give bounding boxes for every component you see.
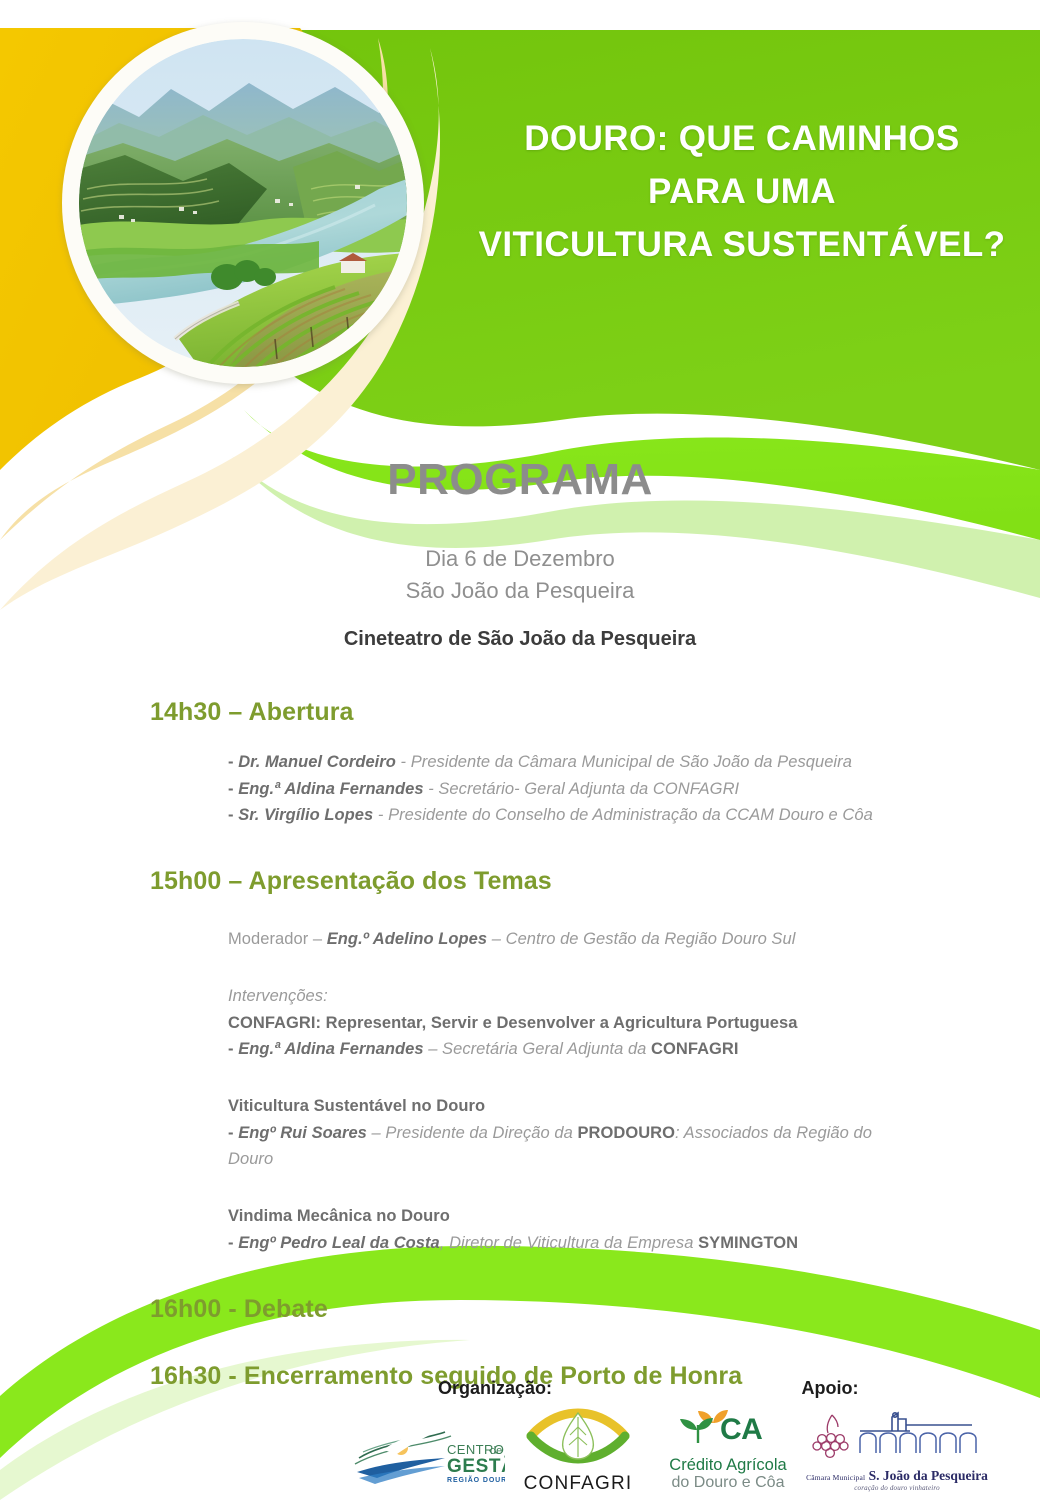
- speaker-prefix: -: [228, 806, 238, 824]
- poster-content: PROGRAMA Dia 6 de Dezembro São João da P…: [0, 0, 1040, 1500]
- credito-agricola-line2: do Douro e Côa: [668, 1474, 788, 1492]
- slot-time-title: 16h00 - Debate: [0, 1295, 1040, 1324]
- centro-gestao-logo: CENTRO de GESTÃO REGIÃO DOURO SUL: [353, 1428, 505, 1495]
- speaker-line: - Sr. Virgílio Lopes - Presidente do Con…: [228, 802, 920, 829]
- camara-municipal-name: Câmara Municipal S. João da Pesqueira: [802, 1468, 992, 1484]
- moderator-affiliation: – Centro de Gestão da Região Douro Sul: [487, 930, 795, 948]
- camara-municipal-prefix: Câmara Municipal: [806, 1473, 865, 1482]
- credito-agricola-mark: CA: [668, 1405, 788, 1451]
- schedule-list: 14h30 – Abertura - Dr. Manuel Cordeiro -…: [0, 698, 1040, 1391]
- moderator-name: Eng.º Adelino Lopes: [327, 930, 487, 948]
- speaker-role: - Presidente da Câmara Municipal de São …: [396, 753, 852, 771]
- slot-time-title: 15h00 – Apresentação dos Temas: [0, 867, 1040, 896]
- talk-topic: CONFAGRI: Representar, Servir e Desenvol…: [228, 1010, 920, 1037]
- speaker-name: Eng.ª Aldina Fernandes: [238, 780, 423, 798]
- speaker-prefix: -: [228, 780, 238, 798]
- talk-speaker: - Engº Pedro Leal da Costa, Diretor de V…: [228, 1230, 920, 1257]
- talk-topic: Vindima Mecânica no Douro: [228, 1203, 920, 1230]
- talk-speaker: - Eng.ª Aldina Fernandes – Secretária Ge…: [228, 1036, 920, 1063]
- camara-municipal-city: S. João da Pesqueira: [869, 1468, 988, 1483]
- speaker-prefix: -: [228, 753, 238, 771]
- svg-text:GESTÃO: GESTÃO: [447, 1455, 505, 1477]
- schedule-slot-debate: 16h00 - Debate: [0, 1295, 1040, 1324]
- speaker-line: - Dr. Manuel Cordeiro - Presidente da Câ…: [228, 749, 920, 776]
- apoio-label: Apoio:: [660, 1378, 1000, 1399]
- slot-time-title: 14h30 – Abertura: [0, 698, 1040, 727]
- credito-agricola-line1: Crédito Agrícola: [668, 1456, 788, 1475]
- schedule-slot-abertura: 14h30 – Abertura - Dr. Manuel Cordeiro -…: [0, 698, 1040, 829]
- confagri-mark: [523, 1405, 633, 1467]
- talk-topic: Viticultura Sustentável no Douro: [228, 1093, 920, 1120]
- camara-municipal-tagline: coração do douro vinhateiro: [802, 1484, 992, 1492]
- speaker-name: Dr. Manuel Cordeiro: [238, 753, 396, 771]
- slot-body: Moderador – Eng.º Adelino Lopes – Centro…: [0, 926, 1040, 1256]
- talk-speaker: - Engº Rui Soares – Presidente da Direçã…: [228, 1120, 920, 1173]
- centro-gestao-mark: CENTRO de GESTÃO REGIÃO DOURO SUL: [353, 1428, 505, 1490]
- speaker-role: - Presidente do Conselho de Administraçã…: [373, 806, 873, 824]
- event-date-place: Dia 6 de Dezembro São João da Pesqueira: [0, 543, 1040, 606]
- event-place: São João da Pesqueira: [0, 575, 1040, 607]
- organizacao-logos-row: CENTRO de GESTÃO REGIÃO DOURO SUL CONFAG…: [330, 1405, 660, 1495]
- credito-agricola-logo: CA Crédito Agrícola do Douro e Côa: [668, 1405, 788, 1492]
- footer-logos: Organização: CENTRO de GESTÃO REGIÃO DOU…: [0, 1378, 1040, 1500]
- event-date: Dia 6 de Dezembro: [0, 543, 1040, 575]
- organizacao-group: Organização: CENTRO de GESTÃO REGIÃO DOU…: [330, 1378, 660, 1495]
- speaker-line: - Eng.ª Aldina Fernandes - Secretário- G…: [228, 776, 920, 803]
- moderator-line: Moderador – Eng.º Adelino Lopes – Centro…: [228, 926, 920, 953]
- camara-municipal-sjp-logo: Câmara Municipal S. João da Pesqueira co…: [802, 1409, 992, 1492]
- page-title: PROGRAMA: [0, 455, 1040, 505]
- svg-text:REGIÃO DOURO SUL: REGIÃO DOURO SUL: [447, 1475, 505, 1484]
- event-venue: Cineteatro de São João da Pesqueira: [0, 628, 1040, 651]
- schedule-slot-apresentacao: 15h00 – Apresentação dos Temas Moderador…: [0, 867, 1040, 1256]
- speaker-role: - Secretário- Geral Adjunta da CONFAGRI: [424, 780, 740, 798]
- apoio-group: Apoio: CA Crédito Agrícola do Douro e Cô…: [660, 1378, 1000, 1492]
- apoio-logos-row: CA Crédito Agrícola do Douro e Côa: [660, 1405, 1000, 1492]
- speaker-name: Sr. Virgílio Lopes: [238, 806, 373, 824]
- intervencoes-label: Intervenções:: [228, 983, 920, 1010]
- svg-text:CA: CA: [720, 1413, 762, 1446]
- moderator-label: Moderador –: [228, 930, 327, 948]
- slot-body: - Dr. Manuel Cordeiro - Presidente da Câ…: [0, 749, 1040, 829]
- organizacao-label: Organização:: [330, 1378, 660, 1399]
- confagri-wordmark: CONFAGRI: [519, 1473, 637, 1495]
- confagri-logo: CONFAGRI: [519, 1405, 637, 1495]
- camara-municipal-sjp-mark: [802, 1409, 992, 1465]
